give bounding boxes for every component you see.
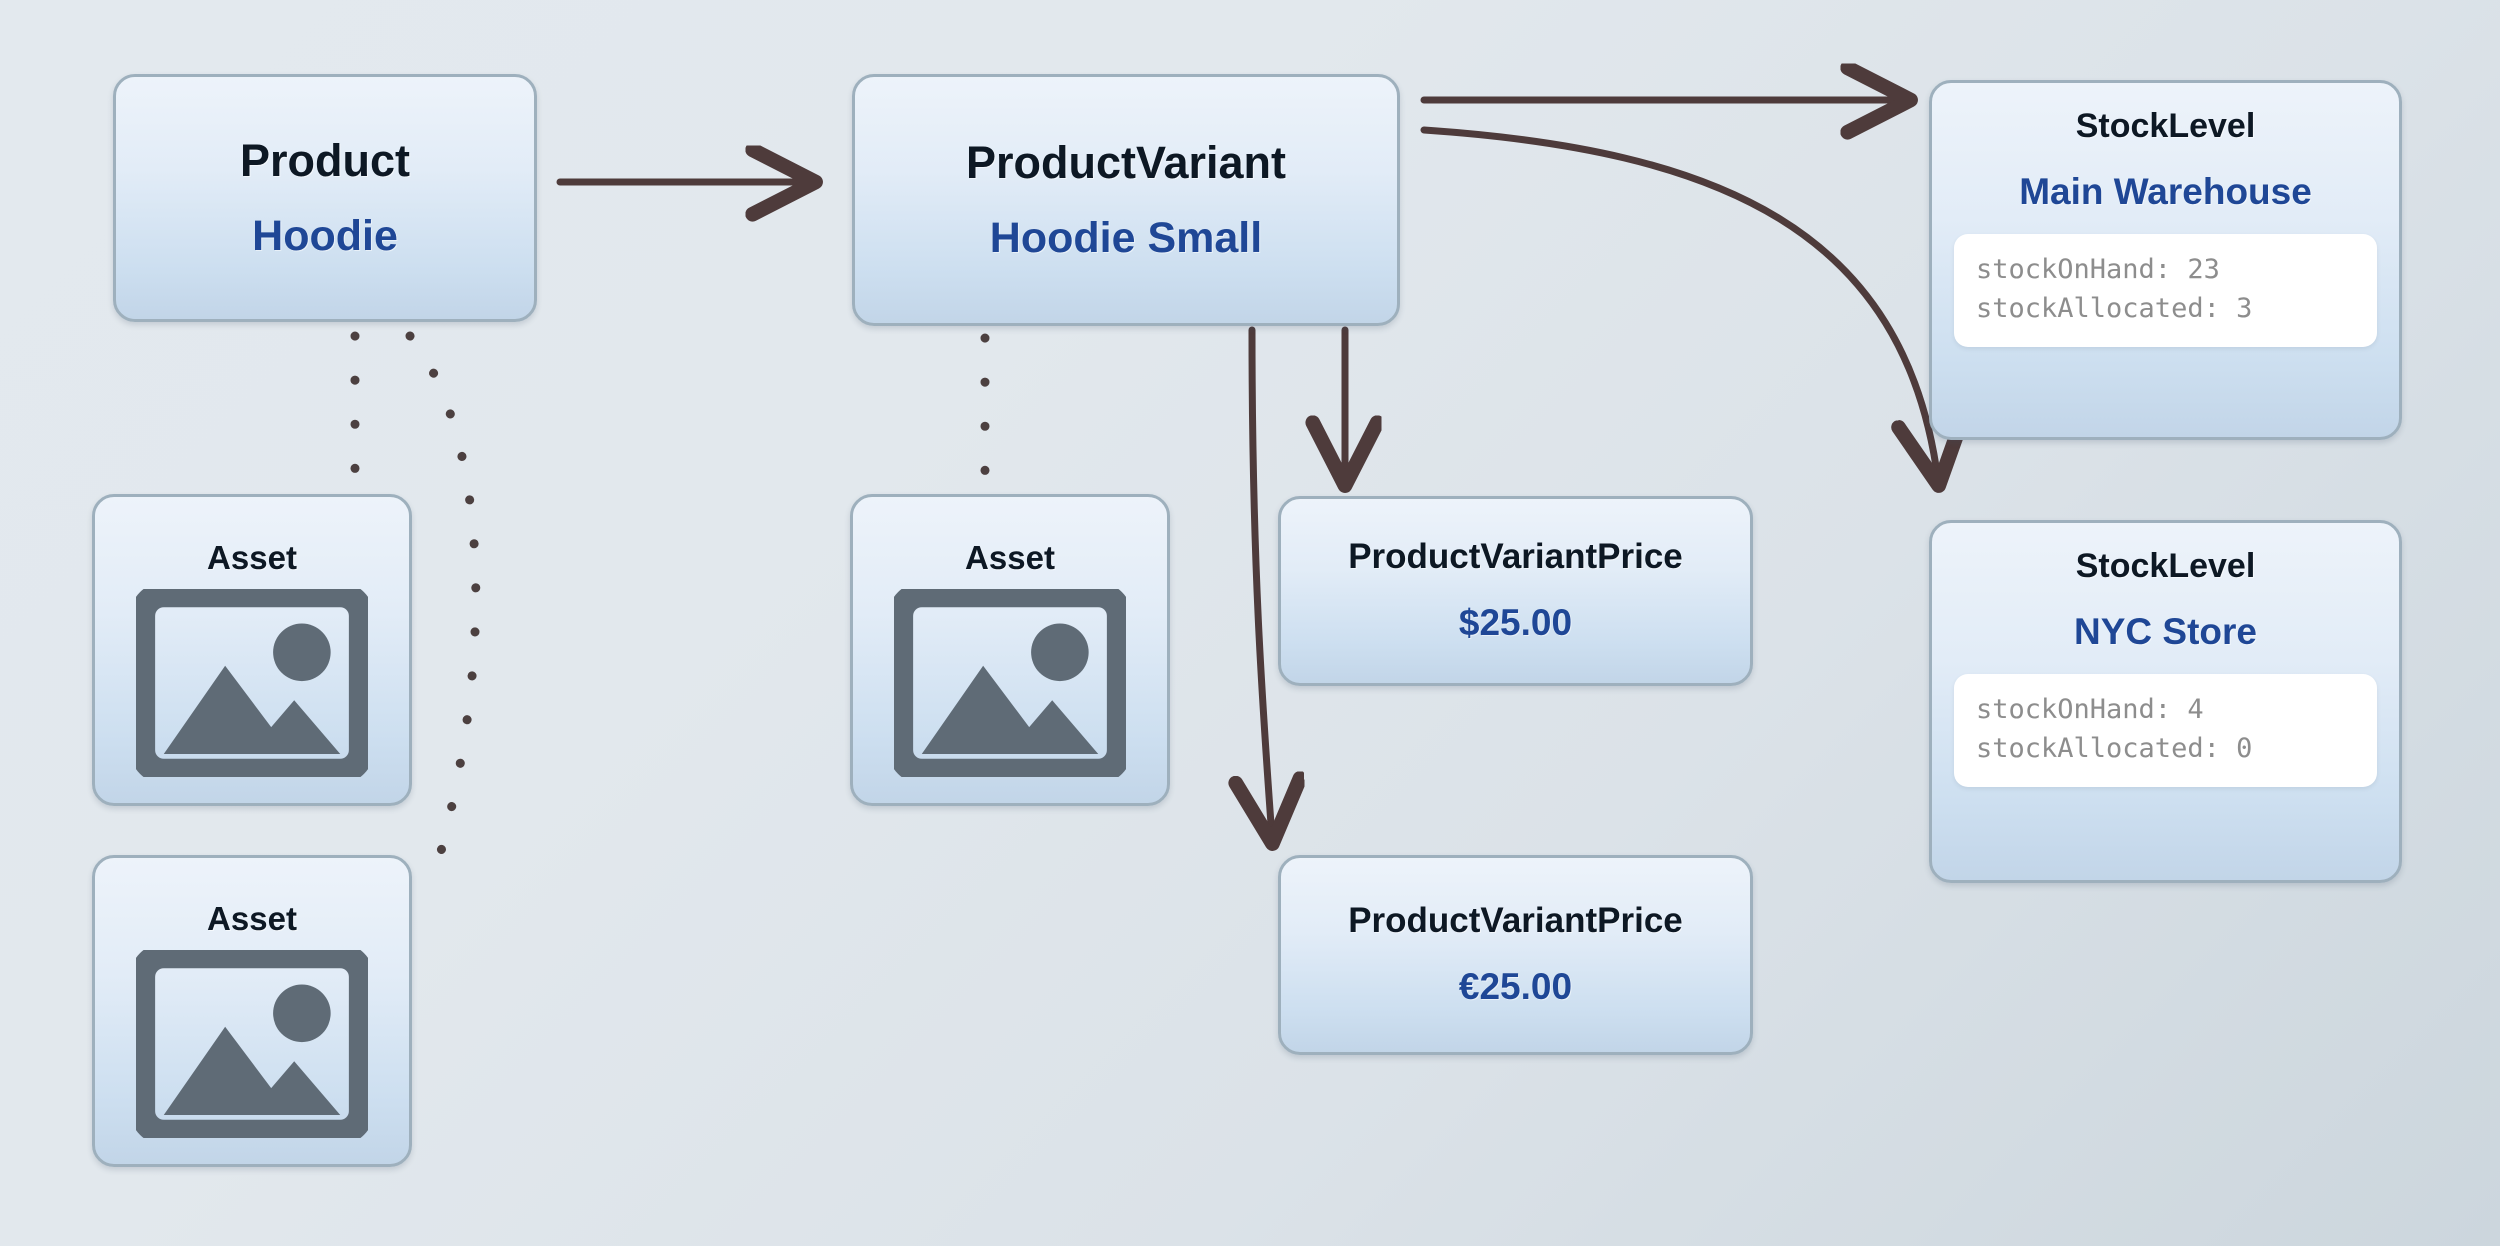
node-stock-nyc-store-fields: stockOnHand: 4 stockAllocated: 0 — [1954, 674, 2377, 788]
node-product-value: Hoodie — [252, 214, 398, 259]
edge-product-to-asset-2 — [410, 336, 476, 855]
diagram-canvas: Product Hoodie ProductVariant Hoodie Sma… — [0, 0, 2500, 1246]
node-price-eur[interactable]: ProductVariantPrice €25.00 — [1278, 855, 1753, 1055]
node-stock-nyc-store-type: StockLevel — [2076, 549, 2256, 585]
node-product[interactable]: Product Hoodie — [113, 74, 537, 322]
node-asset-product-1[interactable]: Asset — [92, 494, 412, 806]
image-placeholder-icon — [136, 589, 368, 777]
node-price-usd-type: ProductVariantPrice — [1348, 539, 1683, 576]
edge-variant-to-price-eur — [1252, 330, 1272, 838]
node-price-eur-type: ProductVariantPrice — [1348, 903, 1683, 940]
image-placeholder-icon — [136, 950, 368, 1138]
node-stock-main-warehouse-value: Main Warehouse — [2019, 173, 2312, 212]
node-asset-variant-1[interactable]: Asset — [850, 494, 1170, 806]
field-stock-allocated: stockAllocated: 3 — [1976, 289, 2357, 329]
node-stock-nyc-store[interactable]: StockLevel NYC Store stockOnHand: 4 stoc… — [1929, 520, 2402, 883]
node-stock-main-warehouse-type: StockLevel — [2076, 109, 2256, 145]
image-placeholder-icon — [894, 589, 1126, 777]
field-stock-on-hand: stockOnHand: 23 — [1976, 250, 2357, 290]
node-asset-product-2-type: Asset — [207, 902, 297, 937]
node-asset-product-2[interactable]: Asset — [92, 855, 412, 1167]
node-product-variant-value: Hoodie Small — [990, 216, 1262, 261]
node-stock-main-warehouse[interactable]: StockLevel Main Warehouse stockOnHand: 2… — [1929, 80, 2402, 440]
node-price-eur-value: €25.00 — [1459, 968, 1572, 1007]
field-stock-allocated: stockAllocated: 0 — [1976, 729, 2357, 769]
node-asset-variant-1-type: Asset — [965, 541, 1055, 576]
node-product-variant[interactable]: ProductVariant Hoodie Small — [852, 74, 1400, 326]
node-asset-product-1-type: Asset — [207, 541, 297, 576]
node-price-usd-value: $25.00 — [1459, 604, 1572, 643]
node-product-type: Product — [240, 137, 410, 184]
edge-variant-to-stock-nyc — [1424, 130, 1938, 480]
field-stock-on-hand: stockOnHand: 4 — [1976, 690, 2357, 730]
node-stock-nyc-store-value: NYC Store — [2074, 613, 2257, 652]
node-stock-main-warehouse-fields: stockOnHand: 23 stockAllocated: 3 — [1954, 234, 2377, 348]
node-product-variant-type: ProductVariant — [966, 139, 1286, 186]
node-price-usd[interactable]: ProductVariantPrice $25.00 — [1278, 496, 1753, 686]
